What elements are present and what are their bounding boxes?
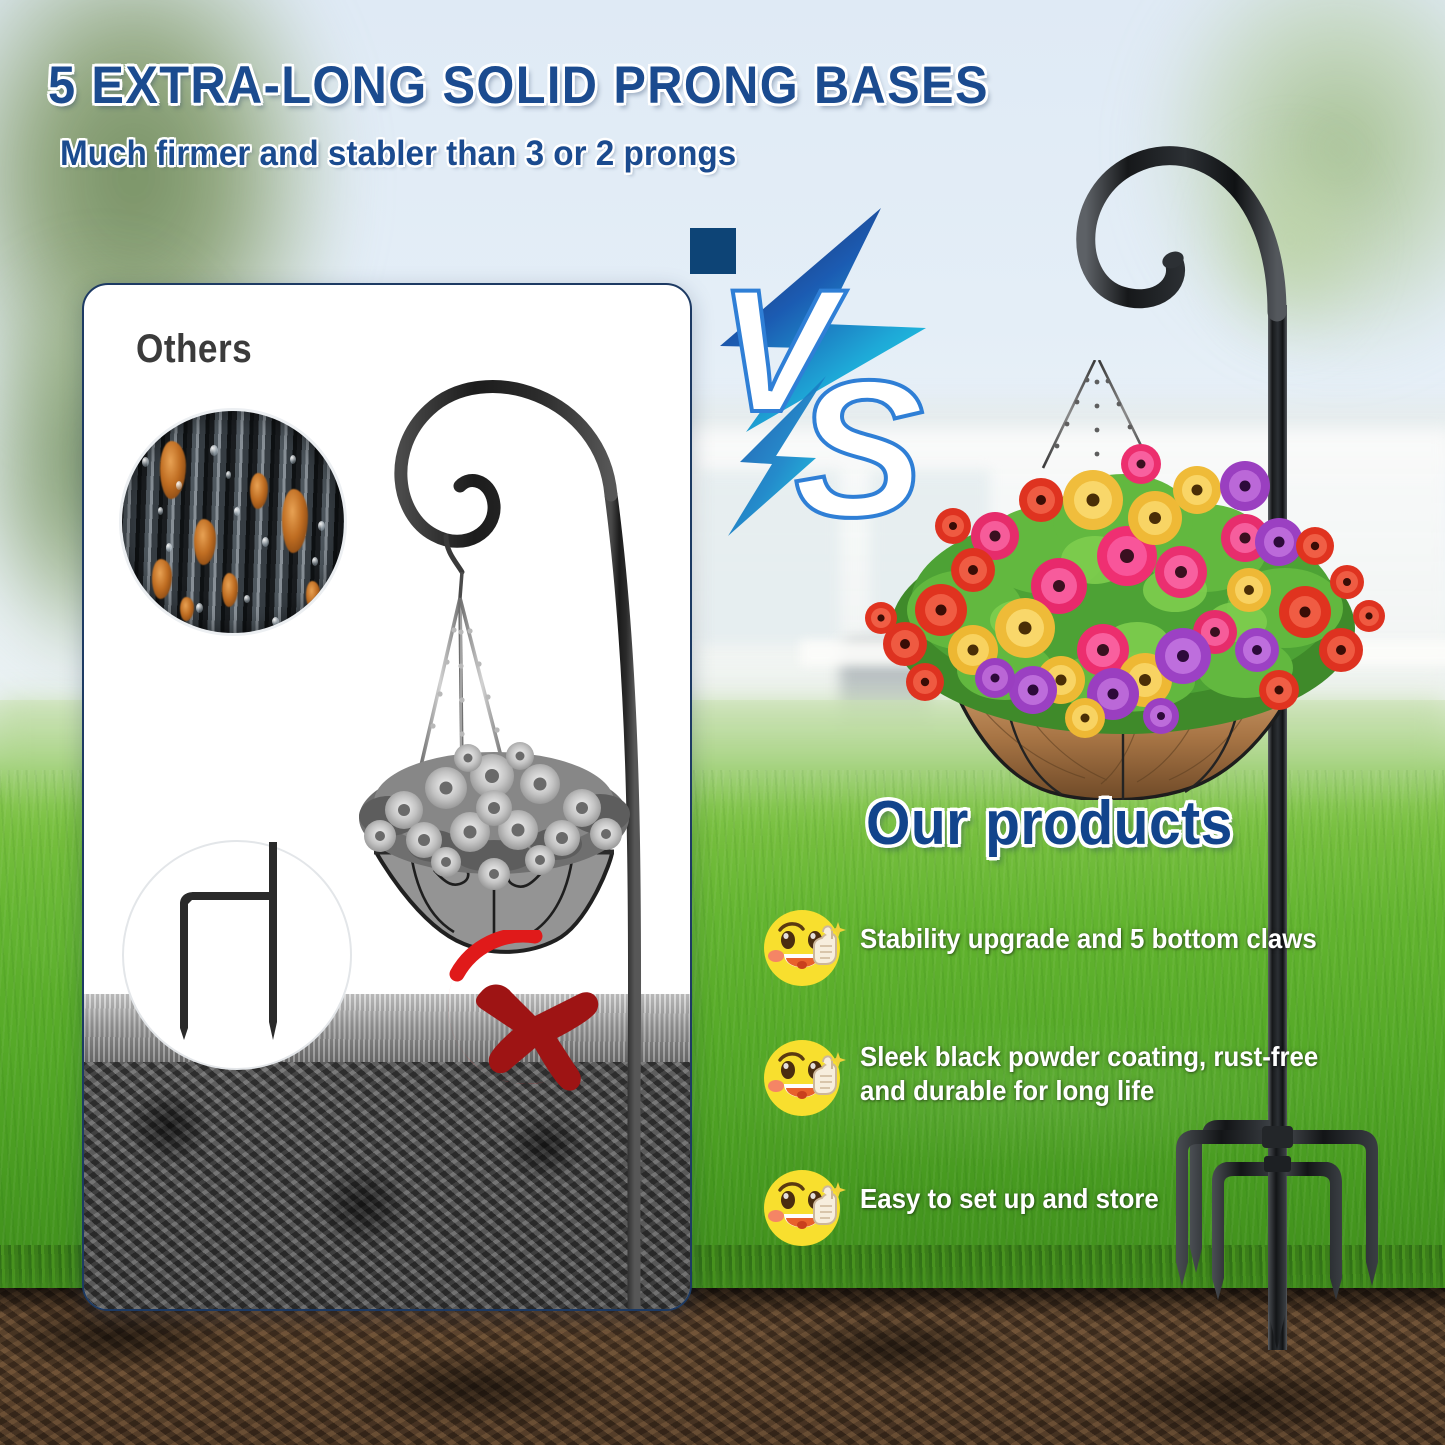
page-subtitle: Much firmer and stabler than 3 or 2 pron… — [60, 134, 915, 174]
others-comparison-card: Others — [82, 283, 692, 1311]
smiley-thumbs-up-icon — [760, 902, 852, 994]
benefit-item-1: Stability upgrade and 5 bottom claws — [760, 902, 1400, 994]
others-hook-and-basket — [334, 340, 692, 1311]
benefit-text-1: Stability upgrade and 5 bottom claws — [860, 922, 1317, 956]
red-x-mark-icon — [439, 930, 617, 1108]
rusty-poles-photo — [119, 408, 347, 636]
smiley-thumbs-up-icon — [760, 1032, 852, 1124]
hanging-flower-basket — [845, 360, 1405, 800]
product-marketing-image: 5 EXTRA-LONG SOLID PRONG BASES Much firm… — [0, 0, 1445, 1445]
others-card-title: Others — [136, 327, 252, 372]
benefit-text-3: Easy to set up and store — [860, 1182, 1159, 1216]
benefit-text-2: Sleek black powder coating, rust-free an… — [860, 1040, 1368, 1107]
page-title: 5 EXTRA-LONG SOLID PRONG BASES — [48, 55, 876, 116]
two-prong-stake-icon — [124, 842, 354, 1072]
benefits-list: Stability upgrade and 5 bottom claws — [760, 902, 1400, 1292]
benefit-item-2: Sleek black powder coating, rust-free an… — [760, 1032, 1400, 1124]
two-prong-stake-diagram — [122, 840, 352, 1070]
benefit-item-3: Easy to set up and store — [760, 1162, 1400, 1254]
accent-square — [690, 228, 736, 274]
smiley-thumbs-up-icon — [760, 1162, 852, 1254]
our-products-title: Our products — [866, 788, 1233, 859]
